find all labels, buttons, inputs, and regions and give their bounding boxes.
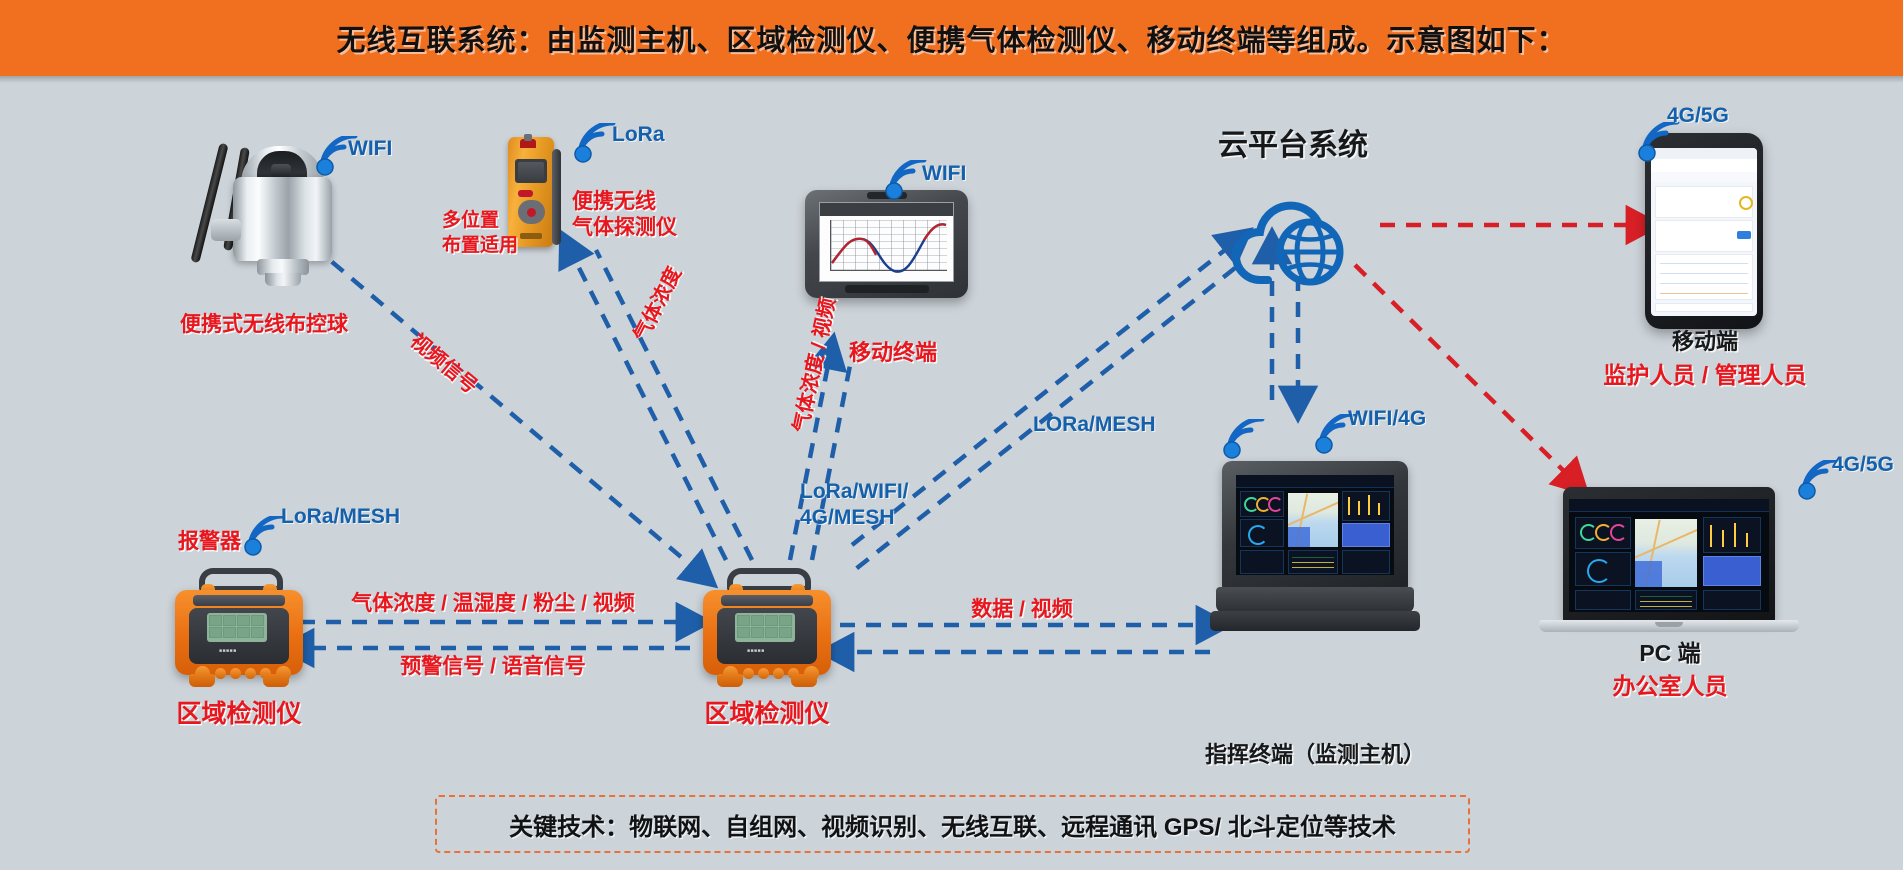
label-command-signal-right: WIFI/4G <box>1348 407 1426 432</box>
phone-card-3[interactable] <box>1655 303 1753 312</box>
command-terminal-bottom-shell <box>1210 611 1420 631</box>
label-command-signal-left: LORa/MESH <box>1033 413 1156 438</box>
label-handheld-name-2: 气体探测仪 <box>572 216 677 241</box>
phone-badge-yellow <box>1739 196 1753 210</box>
camera-mount-knob <box>211 219 241 241</box>
region-detector-display-center <box>735 613 795 642</box>
dashboard-video-panel <box>1342 523 1390 547</box>
wifi-icon-pc <box>1627 460 1673 500</box>
device-rugged-tablet[interactable] <box>805 190 975 305</box>
phone-chart-card <box>1655 254 1753 300</box>
label-pc-name: PC 端 <box>1639 640 1700 667</box>
dashboard-dial <box>1248 525 1268 545</box>
handheld-sensor-probe <box>520 139 536 148</box>
label-link-center-to-command: 数据 / 视频 <box>971 598 1073 623</box>
region-detector-vent-center <box>721 595 813 606</box>
pc-dial <box>1587 559 1611 583</box>
dashboard-gauge-3 <box>1268 497 1283 512</box>
label-alarm-name: 报警器 <box>178 530 241 555</box>
region-detector-foot-c1 <box>717 674 743 687</box>
region-detector-knob-l2[interactable] <box>215 668 226 679</box>
region-detector-knob-l3[interactable] <box>230 668 241 679</box>
key-technologies-text: 关键技术：物联网、自组网、视频识别、无线互联、远程通讯 GPS/ 北斗定位等技术 <box>509 807 1396 842</box>
phone-screen <box>1651 148 1757 316</box>
label-link-center-to-left: 预警信号 / 语音信号 <box>400 655 586 680</box>
header-shadow <box>0 76 1903 83</box>
device-region-detector-left[interactable]: ■■■■■ <box>175 568 305 688</box>
pc-trackpad-notch <box>1655 622 1683 627</box>
label-handheld-note-2: 布置适用 <box>442 235 518 257</box>
tablet-screen <box>819 202 954 282</box>
command-terminal-lid <box>1222 461 1408 589</box>
label-link-protocol-line1: LoRa/WIFI/ <box>800 480 909 505</box>
handheld-screen <box>515 159 547 183</box>
label-phone-role: 监护人员 / 管理人员 <box>1603 362 1806 389</box>
tablet-shell <box>805 190 968 298</box>
label-camera-name: 便携式无线布控球 <box>180 313 348 338</box>
label-camera-signal: WIFI <box>348 137 392 162</box>
label-handheld-signal: LoRa <box>612 123 665 148</box>
phone-badge-blue <box>1737 231 1751 239</box>
pc-table-panel <box>1635 590 1697 610</box>
pc-video-panel <box>1703 556 1761 586</box>
key-technologies-box: 关键技术：物联网、自组网、视频识别、无线互联、远程通讯 GPS/ 北斗定位等技术 <box>435 795 1470 853</box>
device-smartphone[interactable] <box>1645 133 1765 333</box>
region-detector-knob-l4[interactable] <box>245 668 256 679</box>
pc-log-panel <box>1575 590 1631 610</box>
label-phone-name: 移动端 <box>1672 329 1738 355</box>
label-tablet-name: 移动终端 <box>849 340 937 366</box>
region-detector-foot-l2 <box>263 674 289 687</box>
device-pc-laptop[interactable] <box>1563 487 1778 637</box>
pc-status-panel <box>1703 590 1761 610</box>
device-command-terminal[interactable] <box>1222 461 1422 641</box>
handheld-strap <box>552 149 561 245</box>
dashboard-map <box>1288 493 1338 547</box>
label-region-detector-left-name: 区域检测仪 <box>176 700 301 730</box>
region-detector-knob-c2[interactable] <box>743 668 754 679</box>
dashboard-titlebar <box>1236 475 1394 488</box>
pc-gauge-3 <box>1610 524 1627 541</box>
region-detector-brand-center: ■■■■■ <box>747 648 765 654</box>
device-region-detector-center[interactable]: ■■■■■ <box>703 568 833 688</box>
phone-toolbar-row <box>1651 172 1757 182</box>
tablet-port-strip <box>845 285 929 293</box>
handheld-dpad[interactable] <box>518 200 545 224</box>
dashboard-status-panel <box>1342 550 1390 574</box>
pc-screen <box>1569 499 1769 612</box>
pc-map <box>1635 519 1697 587</box>
camera-base-foot <box>265 273 301 286</box>
label-alarm-signal: LoRa/MESH <box>281 505 400 530</box>
region-detector-vent-left <box>193 595 285 606</box>
region-detector-knob-c4[interactable] <box>773 668 784 679</box>
label-phone-signal: 4G/5G <box>1667 104 1729 129</box>
command-terminal-screen <box>1236 475 1394 575</box>
region-detector-knob-c3[interactable] <box>758 668 769 679</box>
label-pc-role: 办公室人员 <box>1613 673 1728 700</box>
region-detector-foot-c2 <box>791 674 817 687</box>
label-handheld-name-1: 便携无线 <box>572 190 656 215</box>
label-region-detector-center-name: 区域检测仪 <box>704 700 829 730</box>
camera-body <box>233 177 332 261</box>
header-title: 无线互联系统：由监测主机、区域检测仪、便携气体检测仪、移动终端等组成。示意图如下… <box>0 0 1903 76</box>
label-pc-signal: 4G/5G <box>1832 453 1894 478</box>
cloud-globe-icon <box>1230 180 1375 295</box>
label-tablet-signal: WIFI <box>922 162 966 187</box>
command-terminal-keyboard-base <box>1216 587 1414 613</box>
dashboard-log-panel <box>1240 550 1284 574</box>
header-banner: 无线互联系统：由监测主机、区域检测仪、便携气体检测仪、移动终端等组成。示意图如下… <box>0 0 1903 76</box>
region-detector-foot-l1 <box>189 674 215 687</box>
pc-lid <box>1563 487 1775 621</box>
diagram-canvas: 无线互联系统：由监测主机、区域检测仪、便携气体检测仪、移动终端等组成。示意图如下… <box>0 0 1903 870</box>
dashboard-table-panel <box>1288 550 1338 574</box>
label-command-terminal-name: 指挥终端（监测主机） <box>1205 742 1425 768</box>
phone-shell <box>1645 133 1763 329</box>
region-detector-brand-left: ■■■■■ <box>219 648 237 654</box>
label-handheld-note-1: 多位置 <box>442 210 499 232</box>
handheld-power-button[interactable] <box>518 190 533 197</box>
pc-dashboard-titlebar <box>1569 499 1769 512</box>
label-link-center-tablet: 气体浓度 / 视频 <box>790 296 841 435</box>
handheld-foot <box>520 233 542 239</box>
region-detector-display-left <box>207 613 267 642</box>
label-link-left-to-center: 气体浓度 / 温湿度 / 粉尘 / 视频 <box>351 592 635 617</box>
label-link-camera-video: 视频信号 <box>405 330 481 399</box>
label-cloud-name: 云平台系统 <box>1218 128 1368 163</box>
wifi-icon-command-left <box>1222 419 1268 459</box>
label-link-protocol-line2: 4G/MESH <box>800 506 895 531</box>
label-link-handheld-gas: 气体浓度 <box>630 264 687 346</box>
